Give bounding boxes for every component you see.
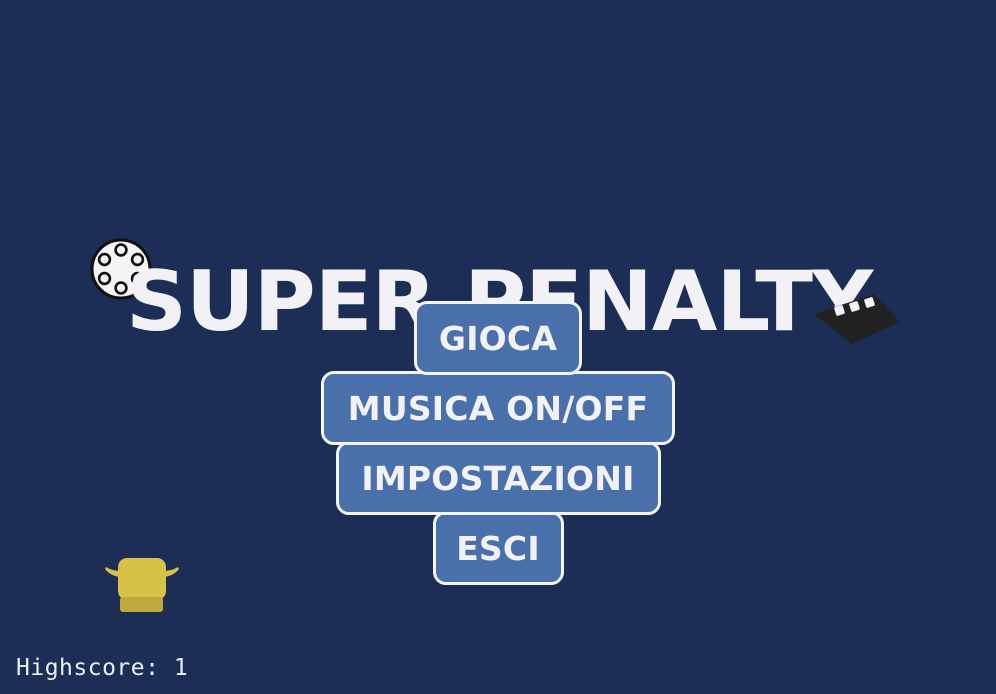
play-button[interactable]: GIOCA [414,301,582,375]
quit-button[interactable]: ESCI [433,511,564,585]
highscore-label: Highscore: 1 [16,655,188,681]
goalkeeper-icon [102,554,182,614]
music-toggle-button[interactable]: MUSICA ON/OFF [321,371,675,445]
settings-button[interactable]: IMPOSTAZIONI [336,441,661,515]
main-menu: GIOCA MUSICA ON/OFF IMPOSTAZIONI ESCI [0,301,996,585]
title-block: SUPER PENALTY [0,118,996,238]
game-screen: SUPER PENALTY GIOCA MUSICA ON/OFF IMPOST… [0,0,996,694]
